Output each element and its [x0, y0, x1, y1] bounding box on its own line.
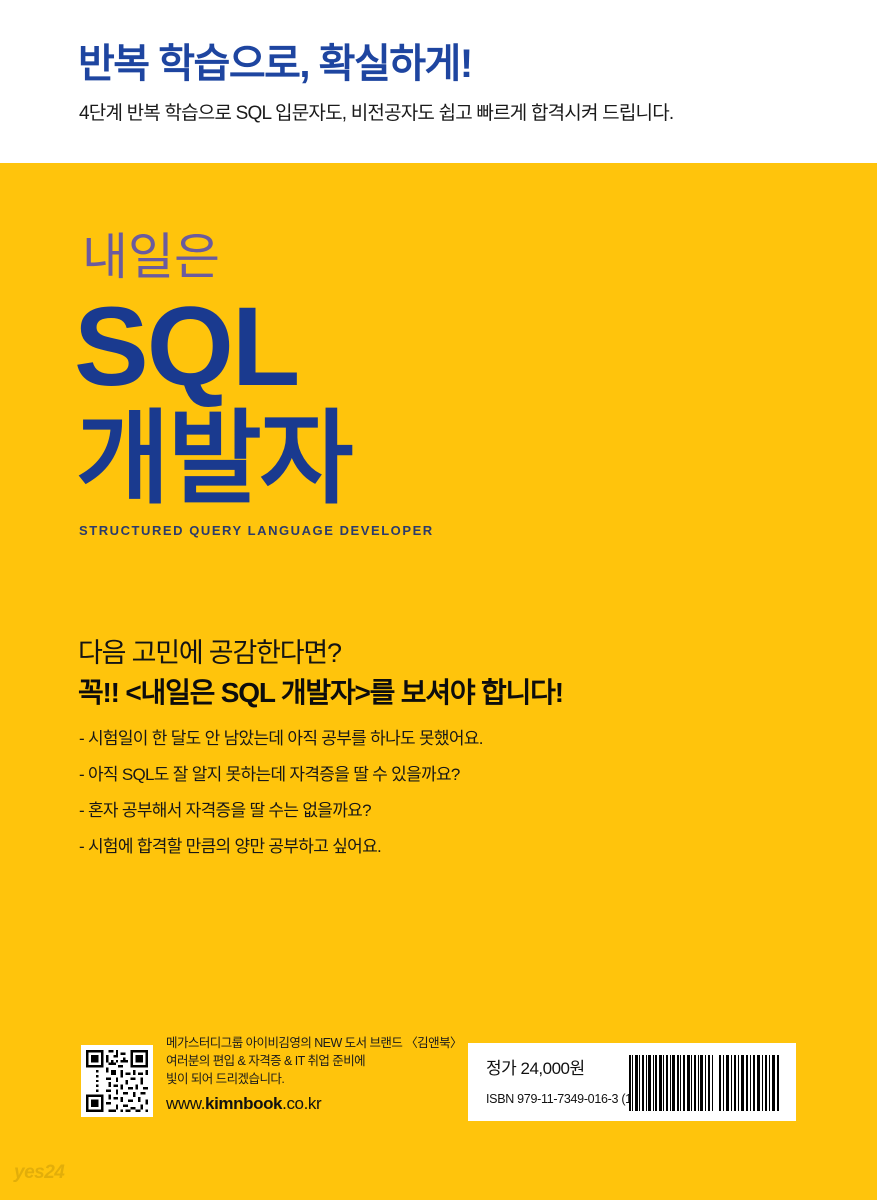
list-item: - 혼자 공부해서 자격증을 딸 수는 없을까요? — [79, 802, 779, 819]
pitch-question: 다음 고민에 공감한다면? — [78, 640, 341, 667]
book-back-cover: 반복 학습으로, 확실하게! 4단계 반복 학습으로 SQL 입문자도, 비전공… — [0, 0, 877, 1200]
list-item: - 시험일이 한 달도 안 남았는데 아직 공부를 하나도 못했어요. — [79, 730, 779, 747]
publisher-line: 빛이 되어 드리겠습니다. — [166, 1070, 466, 1088]
barcode-icon — [629, 1055, 781, 1111]
qr-code-icon[interactable] — [81, 1045, 153, 1117]
url-suffix: .co.kr — [282, 1094, 321, 1113]
publisher-info: 메가스터디그룹 아이비김영의 NEW 도서 브랜드 〈김앤북〉 여러분의 편입 … — [166, 1034, 466, 1112]
publisher-line: 여러분의 편입 & 자격증 & IT 취업 준비에 — [166, 1052, 466, 1070]
publisher-website-link[interactable]: www.kimnbook.co.kr — [166, 1095, 466, 1112]
publisher-line: 메가스터디그룹 아이비김영의 NEW 도서 브랜드 〈김앤북〉 — [166, 1034, 466, 1052]
list-item: - 아직 SQL도 잘 알지 못하는데 자격증을 딸 수 있을까요? — [79, 766, 779, 783]
pitch-recommendation: 꼭!! <내일은 SQL 개발자>를 보셔야 합니다! — [78, 679, 563, 707]
title-english-subtitle: STRUCTURED QUERY LANGUAGE DEVELOPER — [79, 524, 434, 537]
price-isbn-box: 정가 24,000원 ISBN 979-11-7349-016-3 (13000… — [468, 1043, 796, 1121]
url-prefix: www. — [166, 1094, 205, 1113]
title-prefix: 내일은 — [82, 232, 220, 282]
site-watermark: yes24 — [14, 1163, 64, 1182]
list-item: - 시험에 합격할 만큼의 양만 공부하고 싶어요. — [79, 838, 779, 855]
page-title: 개발자 — [76, 408, 352, 510]
price-label: 정가 24,000원 — [486, 1060, 585, 1077]
pain-point-list: - 시험일이 한 달도 안 남았는데 아직 공부를 하나도 못했어요. - 아직… — [79, 730, 779, 874]
header-headline: 반복 학습으로, 확실하게! — [78, 44, 472, 84]
title-acronym: SQL — [74, 291, 298, 403]
url-brand: kimnbook — [205, 1094, 282, 1113]
header-band: 반복 학습으로, 확실하게! 4단계 반복 학습으로 SQL 입문자도, 비전공… — [0, 0, 877, 163]
header-subtitle: 4단계 반복 학습으로 SQL 입문자도, 비전공자도 쉽고 빠르게 합격시켜 … — [79, 104, 673, 123]
